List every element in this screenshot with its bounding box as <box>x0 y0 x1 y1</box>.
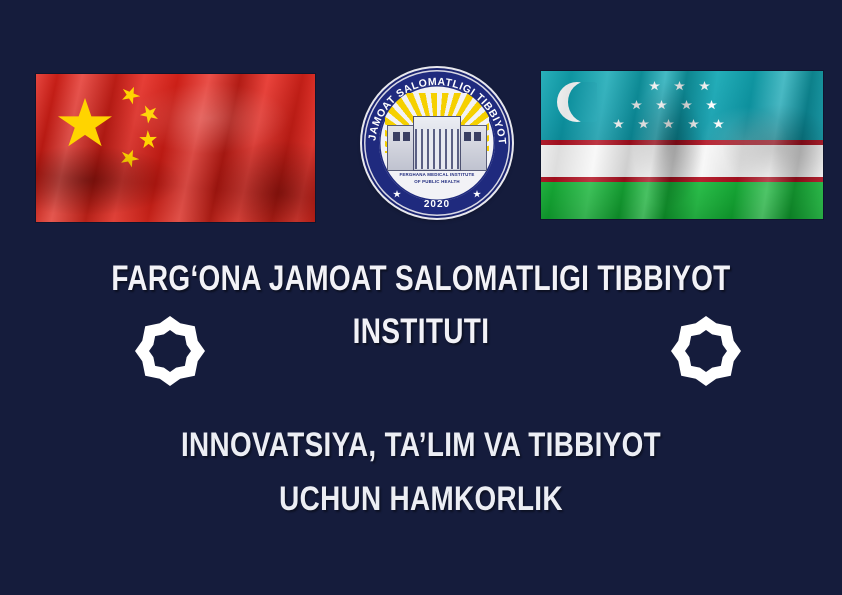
uz-star <box>674 81 685 91</box>
uz-star <box>713 119 724 129</box>
institute-building-icon <box>387 125 487 171</box>
building-window <box>464 132 471 141</box>
slogan-line1: INNOVATSIYA, TA’LIM VA TIBBIYOT <box>76 418 766 472</box>
emblem-inner-disc: FERGHANA MEDICAL INSTITUTE OF PUBLIC HEA… <box>379 85 495 201</box>
uz-star-row <box>603 100 725 115</box>
uz-flag-band-white <box>541 145 823 177</box>
eight-pointed-star-icon-left <box>135 316 205 386</box>
eight-pointed-star-icon-right <box>671 316 741 386</box>
uz-star <box>656 100 667 110</box>
uz-star <box>649 81 660 91</box>
building-columns <box>415 129 459 169</box>
uz-star-row <box>603 119 725 134</box>
building-window <box>403 132 410 141</box>
uz-star <box>699 81 710 91</box>
institute-emblem: FARG'ONA JAMOAT SALOMATLIGI TIBBIYOT INS… <box>362 68 512 218</box>
banner-root: FARG'ONA JAMOAT SALOMATLIGI TIBBIYOT INS… <box>0 0 842 595</box>
uzbekistan-flag <box>541 71 823 219</box>
building-window <box>474 132 481 141</box>
ornament-inner-star <box>149 330 191 372</box>
china-flag-star-large <box>58 98 112 150</box>
uz-flag-band-green <box>541 182 823 219</box>
uz-star-row <box>603 81 725 96</box>
emblem-caption: FERGHANA MEDICAL INSTITUTE OF PUBLIC HEA… <box>379 172 495 185</box>
china-flag-star-small-1 <box>118 83 143 107</box>
emblem-founding-year: 2020 <box>362 199 512 210</box>
emblem-caption-line2: OF PUBLIC HEALTH <box>379 179 495 185</box>
china-flag <box>36 74 315 222</box>
slogan-line2: UCHUN HAMKORLIK <box>76 472 766 526</box>
uz-star <box>663 119 674 129</box>
china-flag-star-small-4 <box>117 146 142 170</box>
uz-star <box>681 100 692 110</box>
uz-star <box>613 119 624 129</box>
uz-star <box>688 119 699 129</box>
china-flag-star-small-2 <box>136 101 162 127</box>
institute-title-line1: FARG‘ONA JAMOAT SALOMATLIGI TIBBIYOT <box>84 252 758 305</box>
partnership-slogan: INNOVATSIYA, TA’LIM VA TIBBIYOT UCHUN HA… <box>0 418 842 526</box>
uz-star <box>631 100 642 110</box>
uz-flag-stars <box>603 81 725 138</box>
ornament-inner-star <box>685 330 727 372</box>
building-window <box>393 132 400 141</box>
flag-row: FARG'ONA JAMOAT SALOMATLIGI TIBBIYOT INS… <box>0 0 842 240</box>
uz-star <box>706 100 717 110</box>
crescent-moon-icon <box>557 82 597 122</box>
uz-star <box>638 119 649 129</box>
china-flag-star-small-3 <box>137 128 160 152</box>
